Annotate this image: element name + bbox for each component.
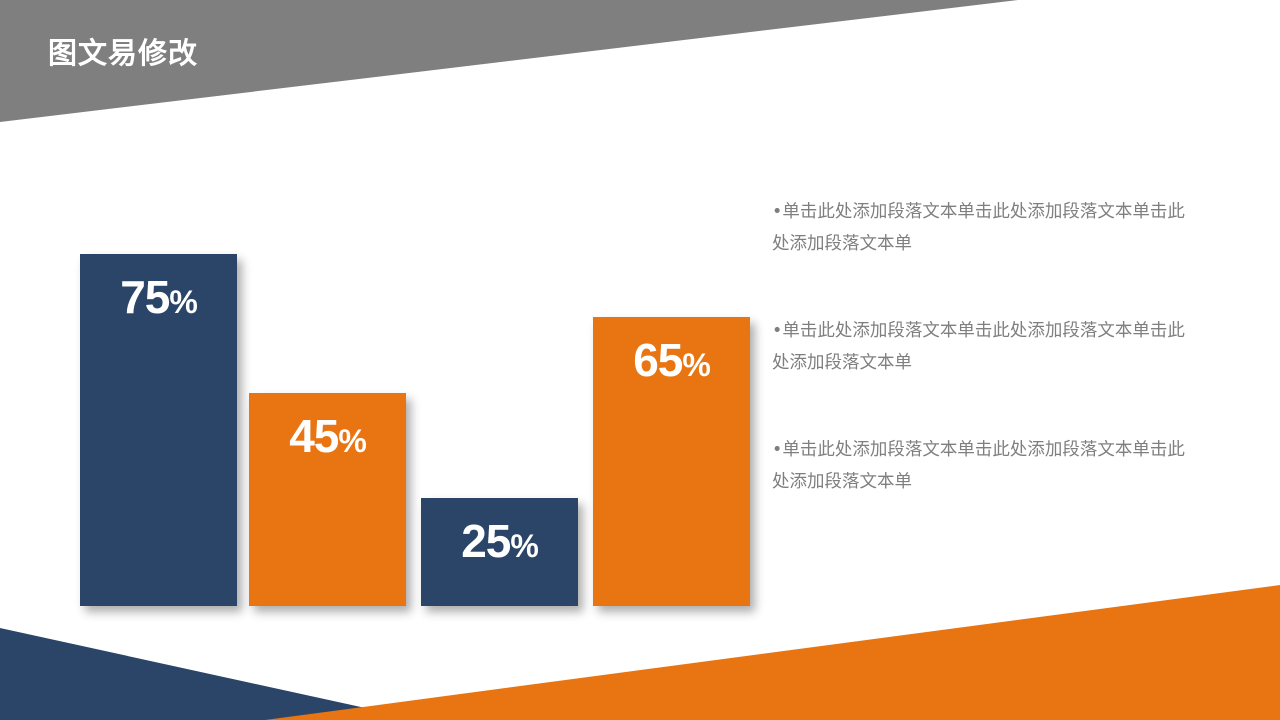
description-item[interactable]: •单击此处添加段落文本单击此处添加段落文本单击此处添加段落文本单 xyxy=(772,196,1192,261)
bar-chart: 75% 45% 25% 65% xyxy=(0,0,780,720)
bar-item[interactable]: 75% xyxy=(80,254,237,606)
bullet-icon: • xyxy=(772,440,782,460)
description-text: 单击此处添加段落文本单击此处添加段落文本单击此处添加段落文本单 xyxy=(772,440,1185,492)
bar-value-label: 75% xyxy=(120,254,197,320)
bar-value-label: 45% xyxy=(289,393,366,459)
bar-value-label: 25% xyxy=(461,498,538,564)
bar-value-label: 65% xyxy=(633,317,710,383)
description-text: 单击此处添加段落文本单击此处添加段落文本单击此处添加段落文本单 xyxy=(772,321,1185,373)
bar-item[interactable]: 25% xyxy=(421,498,578,606)
bar-item[interactable]: 45% xyxy=(249,393,406,606)
description-item[interactable]: •单击此处添加段落文本单击此处添加段落文本单击此处添加段落文本单 xyxy=(772,315,1192,380)
bar-item[interactable]: 65% xyxy=(593,317,750,606)
description-list: •单击此处添加段落文本单击此处添加段落文本单击此处添加段落文本单 •单击此处添加… xyxy=(772,196,1192,498)
bullet-icon: • xyxy=(772,202,782,222)
description-text: 单击此处添加段落文本单击此处添加段落文本单击此处添加段落文本单 xyxy=(772,202,1185,254)
description-item[interactable]: •单击此处添加段落文本单击此处添加段落文本单击此处添加段落文本单 xyxy=(772,434,1192,499)
bullet-icon: • xyxy=(772,321,782,341)
